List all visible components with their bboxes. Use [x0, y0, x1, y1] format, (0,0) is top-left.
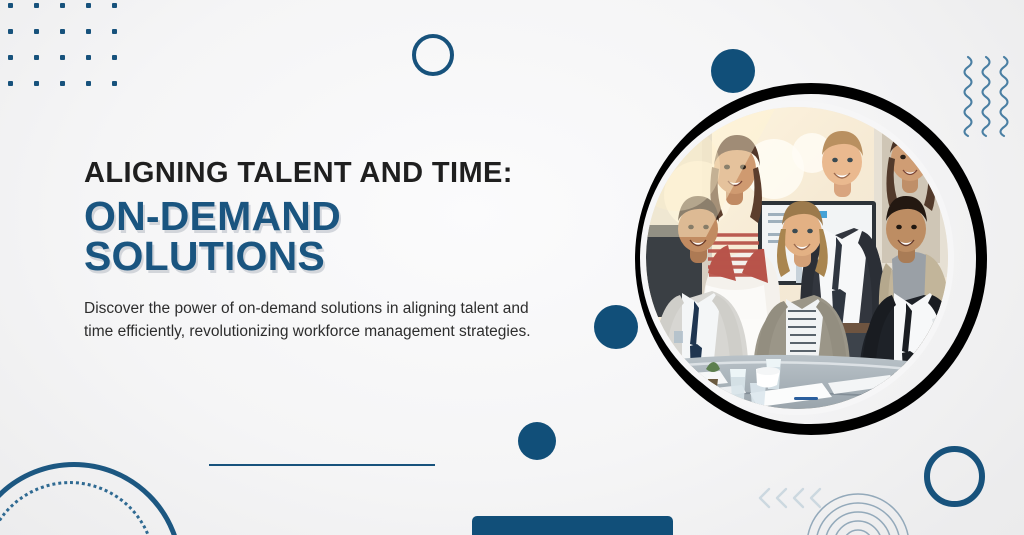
dot-grid-dot: [34, 81, 39, 86]
dot-grid-dot: [86, 55, 91, 60]
ring-outline-bottom-right-icon: [924, 446, 985, 507]
dot-grid-dot: [112, 55, 117, 60]
hero-photo-circle: [646, 107, 948, 409]
dot-grid-dot: [8, 3, 13, 8]
dot-grid-dot: [86, 3, 91, 8]
headline-line-2: SOLUTIONS: [84, 237, 554, 277]
dot-grid-dot: [112, 29, 117, 34]
dot-grid-dot: [34, 3, 39, 8]
bottom-left-rings-decoration: [0, 462, 187, 535]
headline-line-1: ON-DEMAND: [84, 197, 554, 237]
dot-grid-decoration: [8, 0, 128, 86]
dot-grid-dot: [8, 81, 13, 86]
bottom-left-solid-ring: [0, 462, 183, 535]
dot-grid-dot: [8, 55, 13, 60]
concentric-arcs-decoration: [806, 488, 910, 535]
dot-grid-dot: [60, 55, 65, 60]
page-title: ON-DEMAND SOLUTIONS: [84, 197, 554, 277]
horizontal-rule-divider: [209, 464, 435, 466]
blue-dot-middle-decoration: [518, 422, 556, 460]
dot-grid-dot: [8, 29, 13, 34]
dot-grid-dot: [112, 81, 117, 86]
dot-grid-dot: [60, 3, 65, 8]
dot-grid-dot: [60, 29, 65, 34]
hero-image-group: [610, 55, 990, 455]
ring-outline-top-icon: [412, 34, 454, 76]
dot-grid-dot: [86, 29, 91, 34]
dot-grid-dot: [34, 55, 39, 60]
dot-grid-dot: [86, 81, 91, 86]
kicker-heading: ALIGNING TALENT AND TIME:: [84, 158, 554, 189]
dot-grid-dot: [60, 81, 65, 86]
blue-bar-footer-accent: [472, 516, 673, 535]
slide-canvas: ALIGNING TALENT AND TIME: ON-DEMAND SOLU…: [0, 0, 1024, 535]
hero-text-block: ALIGNING TALENT AND TIME: ON-DEMAND SOLU…: [84, 158, 554, 343]
chevron-arrows-decoration: [757, 486, 823, 510]
bottom-left-dotted-ring: [0, 481, 156, 535]
dot-grid-dot: [112, 3, 117, 8]
dot-grid-dot: [34, 29, 39, 34]
subcopy-paragraph: Discover the power of on-demand solution…: [84, 298, 532, 343]
